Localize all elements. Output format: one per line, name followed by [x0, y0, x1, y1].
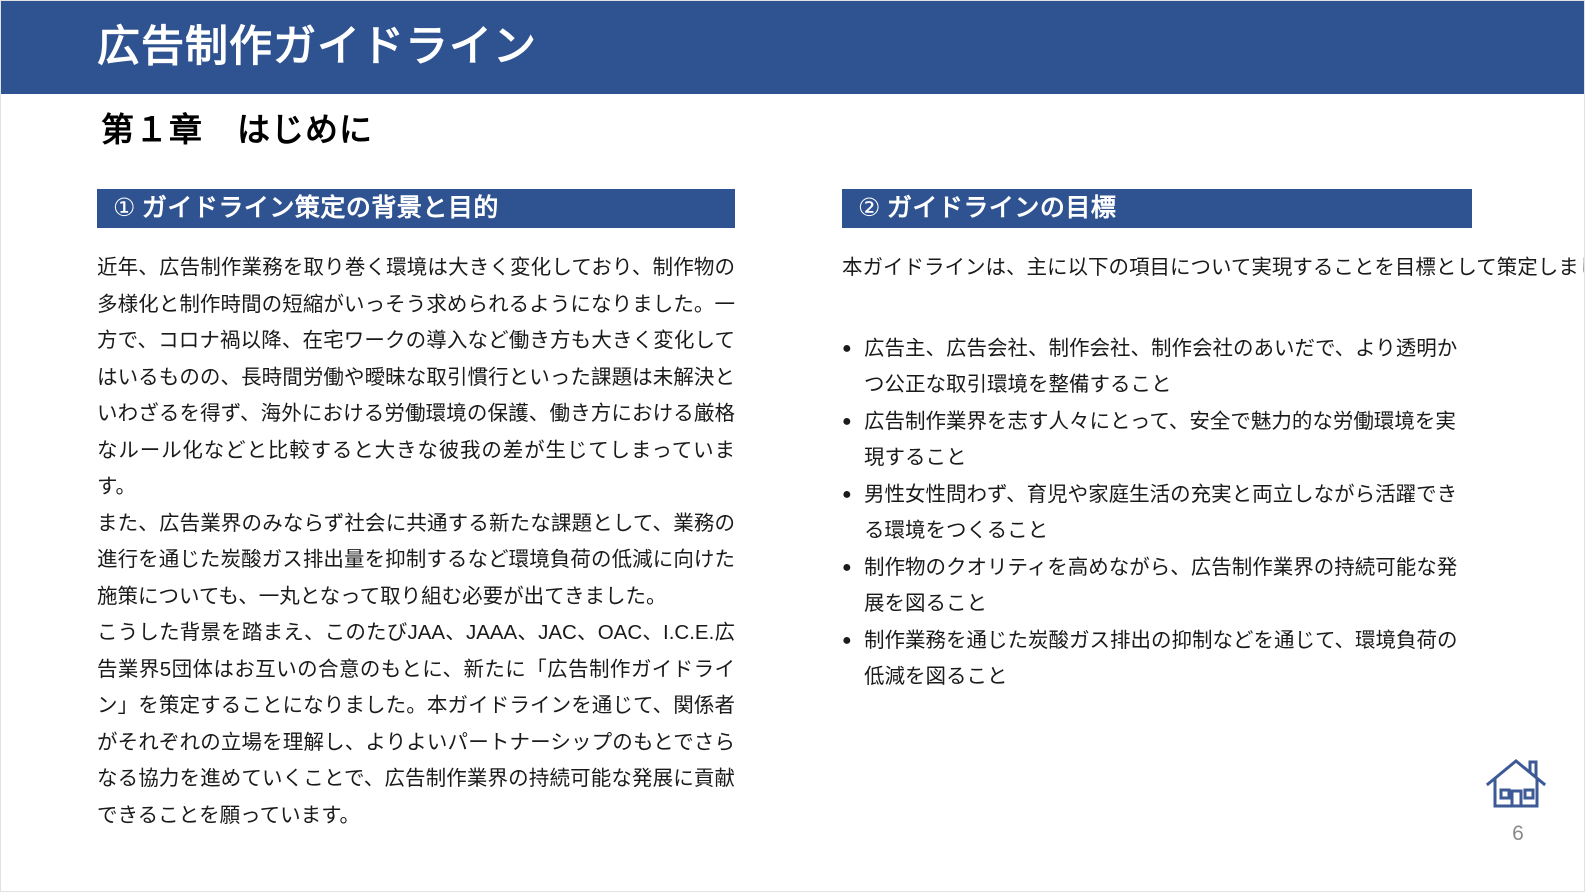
list-item: ● 制作業務を通じた炭酸ガス排出の抑制などを通じて、環境負荷の低減を図ること — [842, 623, 1472, 696]
section-number-2: ② — [858, 194, 881, 222]
list-item: ● 広告制作業界を志す人々にとって、安全で魅力的な労働環境を実現すること — [842, 404, 1472, 477]
list-item: ● 男性女性問わず、育児や家庭生活の充実と両立しながら活躍できる環境をつくること — [842, 477, 1472, 550]
list-item-label: 広告制作業界を志す人々にとって、安全で魅力的な労働環境を実現すること — [864, 410, 1456, 470]
bullet-dot-icon: ● — [842, 404, 852, 441]
list-item-label: 制作業務を通じた炭酸ガス排出の抑制などを通じて、環境負荷の低減を図ること — [864, 629, 1457, 689]
section-header-1: ①ガイドライン策定の背景と目的 — [97, 189, 735, 228]
section-column-left: ①ガイドライン策定の背景と目的 近年、広告制作業務を取り巻く環境は大きく変化して… — [97, 189, 735, 834]
list-item: ● 制作物のクオリティを高めながら、広告制作業界の持続可能な発展を図ること — [842, 550, 1472, 623]
slide: 広告制作ガイドライン 第１章 はじめに ①ガイドライン策定の背景と目的 近年、広… — [0, 0, 1585, 892]
list-item: ● 広告主、広告会社、制作会社、制作会社のあいだで、より透明かつ公正な取引環境を… — [842, 331, 1472, 404]
list-item-label: 男性女性問わず、育児や家庭生活の充実と両立しながら活躍できる環境をつくること — [864, 483, 1457, 543]
document-title: 広告制作ガイドライン — [97, 18, 537, 76]
bullet-dot-icon: ● — [842, 331, 852, 368]
home-icon[interactable] — [1485, 758, 1547, 812]
list-item-label: 広告主、広告会社、制作会社、制作会社のあいだで、より透明かつ公正な取引環境を整備… — [864, 337, 1457, 397]
section-heading-1: ガイドライン策定の背景と目的 — [142, 194, 499, 222]
list-item-label: 制作物のクオリティを高めながら、広告制作業界の持続可能な発展を図ること — [864, 556, 1457, 616]
bullet-dot-icon: ● — [842, 550, 852, 587]
chapter-title: 第１章 はじめに — [101, 108, 373, 152]
paragraph: こうした背景を踏まえ、このたびJAA、JAAA、JAC、OAC、I.C.E.広告… — [97, 615, 735, 834]
section-heading-2: ガイドラインの目標 — [887, 194, 1117, 222]
section-header-2: ②ガイドラインの目標 — [842, 189, 1472, 228]
bullet-dot-icon: ● — [842, 623, 852, 660]
paragraph: また、広告業界のみならず社会に共通する新たな課題として、業務の進行を通じた炭酸ガ… — [97, 506, 735, 616]
document-title-bar: 広告制作ガイドライン — [1, 1, 1585, 94]
bullet-dot-icon: ● — [842, 477, 852, 514]
section-body-1: 近年、広告制作業務を取り巻く環境は大きく変化しており、制作物の多様化と制作時間の… — [97, 250, 735, 834]
section-number-1: ① — [113, 194, 136, 222]
page-number: 6 — [1498, 821, 1538, 847]
goal-list: ● 広告主、広告会社、制作会社、制作会社のあいだで、より透明かつ公正な取引環境を… — [842, 331, 1472, 696]
section-column-right: ②ガイドラインの目標 本ガイドラインは、主に以下の項目について実現することを目標… — [842, 189, 1472, 696]
paragraph: 近年、広告制作業務を取り巻く環境は大きく変化しており、制作物の多様化と制作時間の… — [97, 250, 735, 506]
section-lead-text: 本ガイドラインは、主に以下の項目について実現することを目標として策定しました。 — [842, 250, 1472, 287]
